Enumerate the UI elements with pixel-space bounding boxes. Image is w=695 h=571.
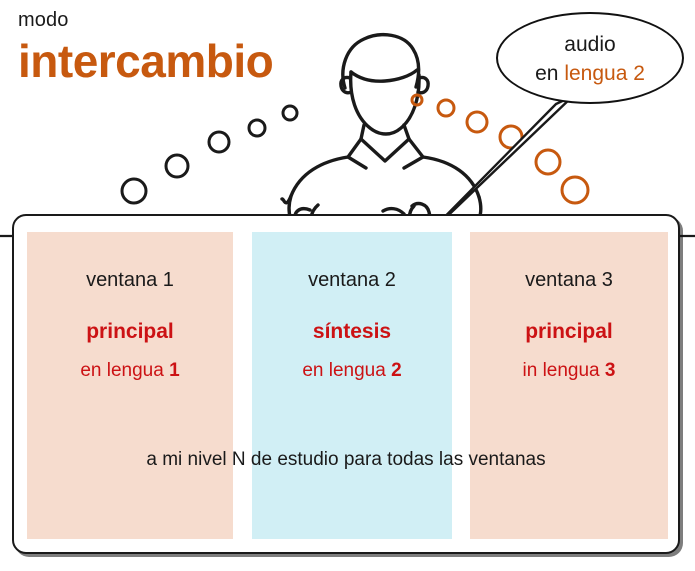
window-role-1: principal: [27, 319, 233, 344]
thought-bubbles-black: [122, 106, 297, 203]
page-title: intercambio: [18, 34, 348, 88]
window-language-2: en lengua 2: [252, 359, 452, 382]
title-eyebrow: modo: [18, 8, 348, 32]
window-column-3[interactable]: ventana 3 principal in lengua 3: [470, 232, 668, 539]
speech-bubble-line-2: en lengua 2: [498, 59, 682, 88]
panel-caption: a mi nivel N de estudio para todas las v…: [14, 448, 678, 471]
window-language-prefix-1: en lengua: [80, 360, 169, 381]
speech-bubble: audio en lengua 2: [496, 12, 684, 104]
thought-bubbles-orange: [412, 95, 588, 203]
window-language-3: in lengua 3: [470, 359, 668, 382]
window-language-number-1: 1: [169, 360, 180, 381]
window-language-prefix-3: in lengua: [523, 360, 605, 381]
windows-panel: ventana 1 principal en lengua 1 ventana …: [12, 214, 680, 554]
speech-bubble-line-2-prefix: en: [535, 62, 564, 85]
window-column-1[interactable]: ventana 1 principal en lengua 1: [27, 232, 233, 539]
window-label-3: ventana 3: [470, 268, 668, 292]
window-column-2[interactable]: ventana 2 síntesis en lengua 2: [252, 232, 452, 539]
speech-bubble-line-1: audio: [498, 30, 682, 59]
window-label-1: ventana 1: [27, 268, 233, 292]
speech-bubble-line-2-highlight: lengua 2: [564, 62, 645, 85]
window-language-prefix-2: en lengua: [302, 360, 391, 381]
window-language-number-3: 3: [605, 360, 616, 381]
window-label-2: ventana 2: [252, 268, 452, 292]
window-language-number-2: 2: [391, 360, 402, 381]
page-title-block: modo intercambio: [18, 8, 348, 88]
window-language-1: en lengua 1: [27, 359, 233, 382]
window-role-2: síntesis: [252, 319, 452, 344]
window-role-3: principal: [470, 319, 668, 344]
speech-bubble-text: audio en lengua 2: [498, 30, 682, 88]
